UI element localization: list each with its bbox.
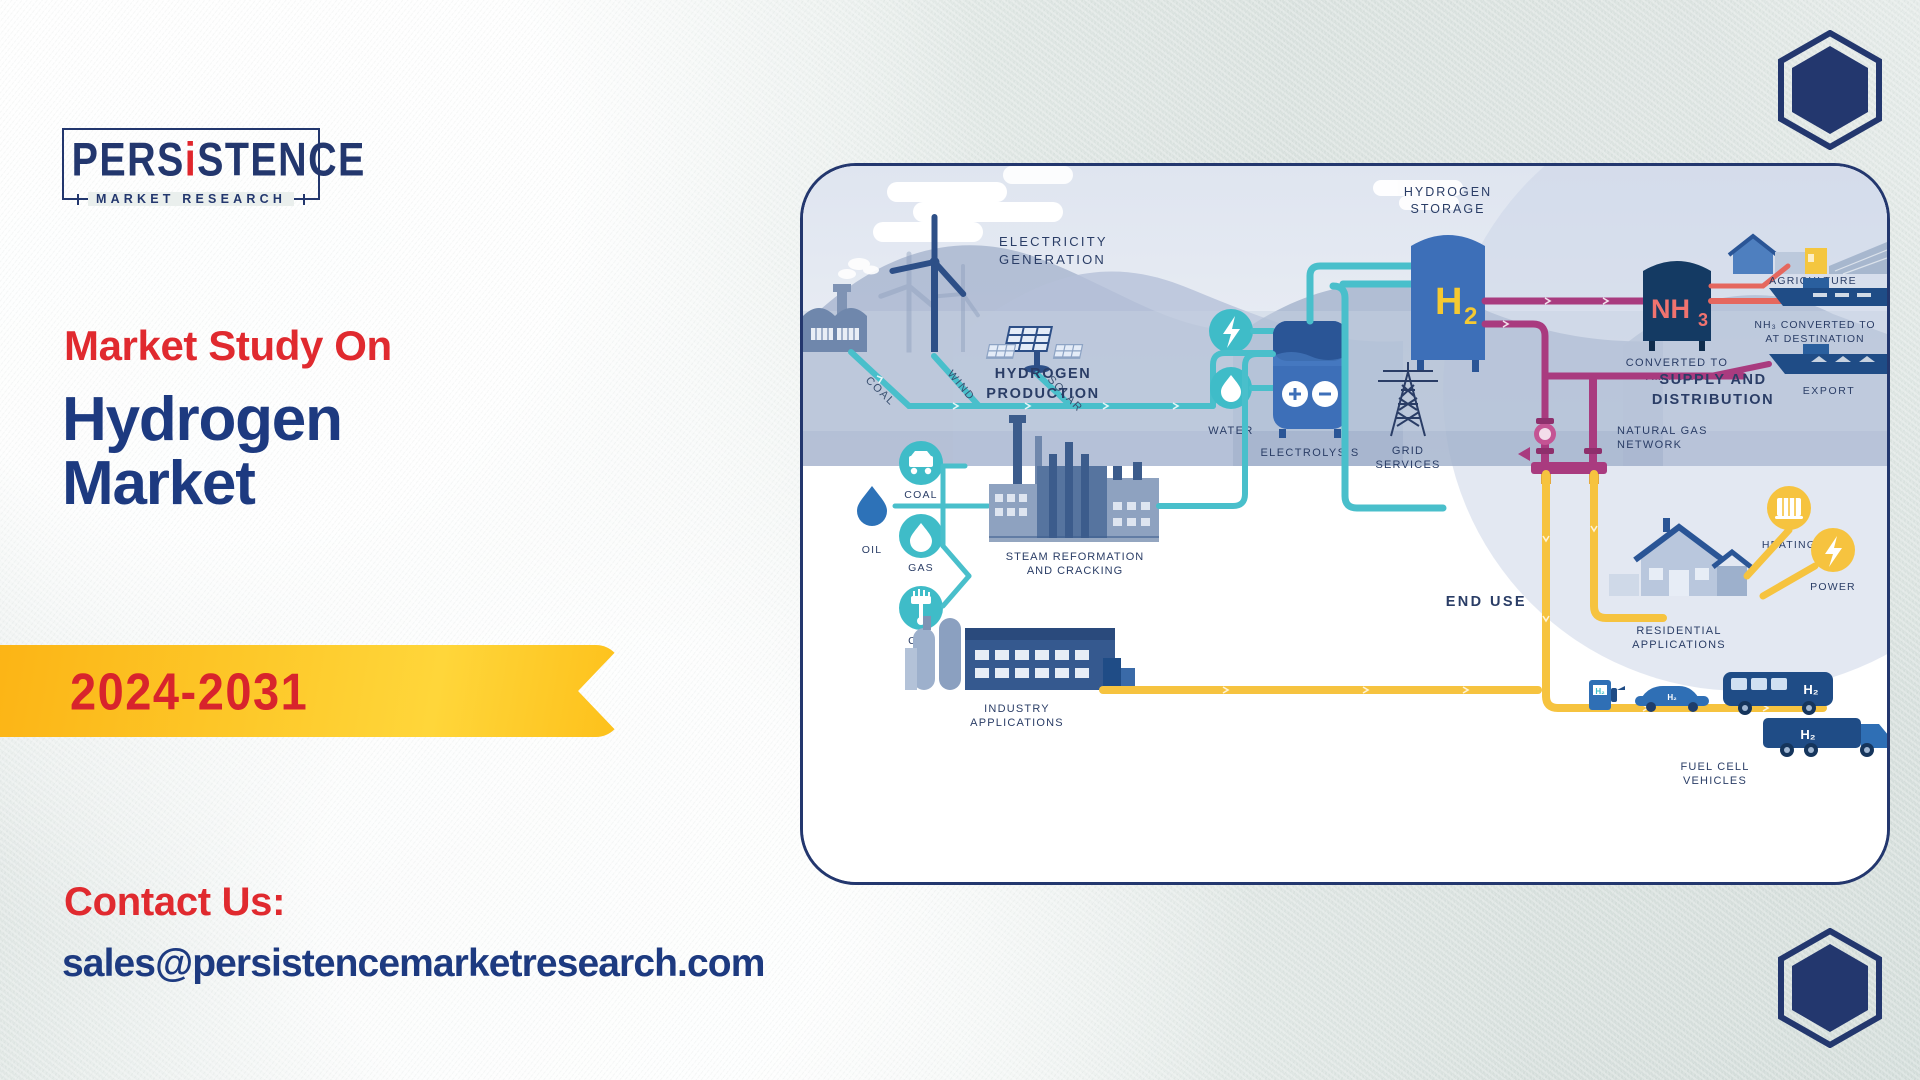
svg-text:H₂: H₂: [1595, 687, 1605, 696]
label-industry-applications-line2: APPLICATIONS: [970, 717, 1064, 729]
label-steam-reformation-line2: AND CRACKING: [1027, 565, 1123, 577]
hydrogen-symbol-subscript: 2: [1464, 303, 1477, 330]
label-natural-gas-network-line1: NATURAL GAS: [1617, 425, 1708, 437]
section-label-end-use: END USE: [1446, 594, 1527, 610]
hexagon-decoration-bottom-icon: [1776, 928, 1884, 1048]
label-power: POWER: [1810, 581, 1856, 593]
label-grid-services-line2: SERVICES: [1375, 459, 1440, 471]
page-title-line1: Hydrogen: [62, 388, 342, 452]
label-residential-line2: APPLICATIONS: [1632, 639, 1726, 651]
logo-word-pre: PERS: [72, 133, 185, 186]
label-export: EXPORT: [1803, 385, 1856, 397]
label-nh3-destination-line1: NH₃ CONVERTED TO: [1754, 319, 1875, 331]
label-steam-reformation-line1: STEAM REFORMATION: [1006, 551, 1144, 563]
year-range-text: 2024-2031: [70, 661, 308, 722]
contact-email[interactable]: sales@persistencemarketresearch.com: [62, 942, 764, 986]
hydrogen-symbol: H: [1435, 281, 1462, 323]
label-hydrogen-storage-line2: STORAGE: [1411, 202, 1486, 216]
hydrogen-value-chain-infographic: ELECTRICITY GENERATION COAL WIND SOLAR: [800, 163, 1890, 885]
section-label-supply-line2: DISTRIBUTION: [1652, 392, 1774, 408]
radiator-glyph-icon: [1775, 498, 1803, 519]
label-grid-services-line1: GRID: [1392, 445, 1424, 457]
page-title: Hydrogen Market: [62, 388, 342, 517]
label-oil: OIL: [862, 544, 883, 556]
label-electricity-generation-line1: ELECTRICITY: [999, 234, 1108, 249]
page-title-line2: Market: [62, 452, 342, 516]
section-label-production-line1: HYDROGEN: [995, 366, 1092, 382]
label-coal: COAL: [904, 489, 937, 501]
label-hydrogen-storage-line1: HYDROGEN: [1404, 185, 1492, 199]
year-range-banner: 2024-2031: [0, 645, 622, 737]
svg-text:H₂: H₂: [1667, 693, 1677, 702]
logo-subtitle: MARKET RESEARCH: [88, 192, 294, 206]
label-nh3-destination-line2: AT DESTINATION: [1765, 333, 1864, 345]
label-electricity-generation-line2: GENERATION: [999, 252, 1106, 267]
section-label-production-line2: PRODUCTION: [986, 386, 1099, 402]
label-fuel-cell-vehicles-line1: FUEL CELL: [1680, 761, 1749, 773]
label-industry-applications-line1: INDUSTRY: [984, 703, 1050, 715]
ammonia-symbol-subscript: 3: [1698, 310, 1708, 330]
electrolyser-icon: [1273, 321, 1347, 438]
svg-text:H₂: H₂: [1803, 682, 1818, 697]
section-label-supply-line1: SUPPLY AND: [1659, 372, 1766, 388]
label-natural-gas-network-line2: NETWORK: [1617, 439, 1682, 451]
logo-word-post: STENCE: [197, 133, 366, 186]
logo-subtitle-wrap: MARKET RESEARCH: [28, 188, 354, 210]
logo-word-accent-i: i: [185, 133, 197, 186]
logo-rule-right: [294, 198, 303, 200]
hexagon-decoration-top-icon: [1776, 30, 1884, 150]
ammonia-symbol: NH: [1651, 294, 1690, 324]
logo-tick-right-icon: [303, 194, 305, 205]
label-residential-line1: RESIDENTIAL: [1636, 625, 1721, 637]
logo-wordmark: PERSiSTENCE: [72, 133, 311, 187]
logo-rule-left: [79, 198, 88, 200]
svg-text:H₂: H₂: [1800, 727, 1815, 742]
label-gas: GAS: [908, 562, 934, 574]
label-fuel-cell-vehicles-line2: VEHICLES: [1683, 775, 1747, 787]
headline-kicker: Market Study On: [64, 322, 392, 370]
contact-label: Contact Us:: [64, 880, 285, 925]
